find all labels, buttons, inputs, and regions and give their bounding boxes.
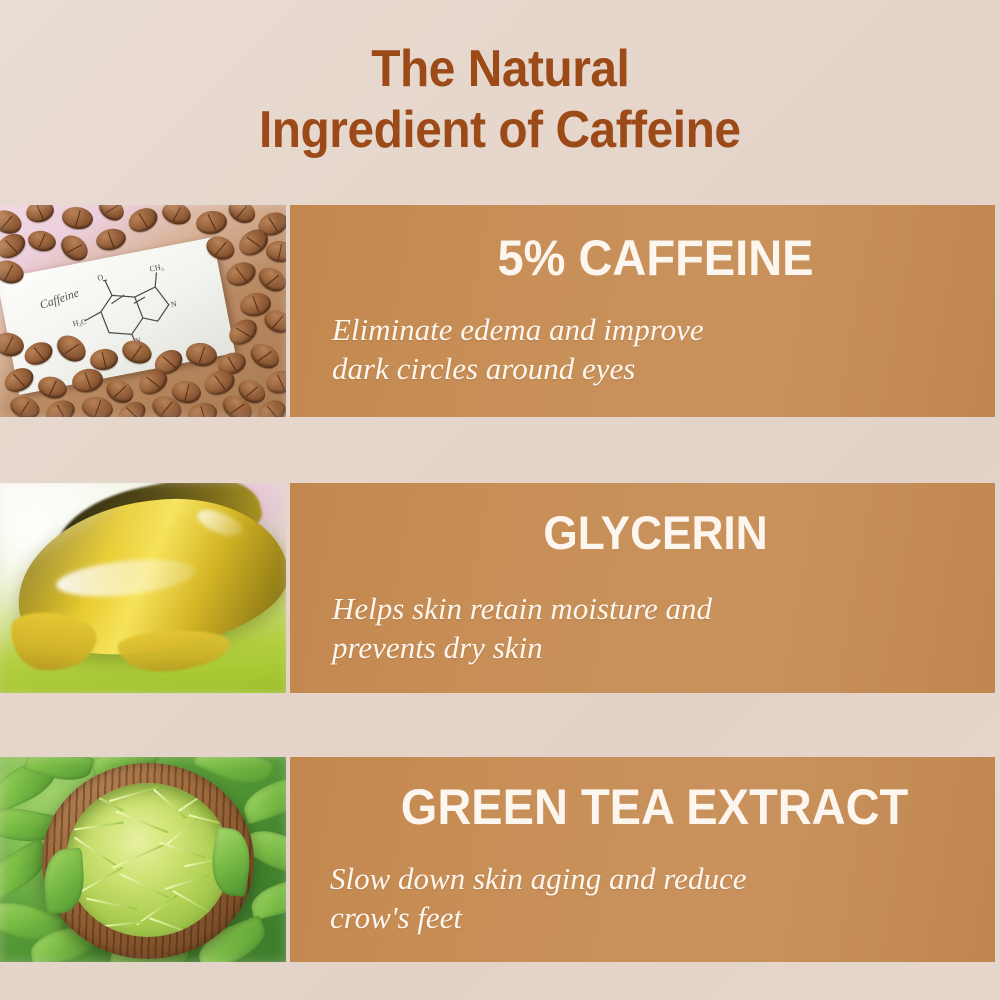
ingredient-description-line-1: Helps skin retain moisture and	[332, 591, 712, 626]
page-title-line-1: The Natural	[371, 39, 629, 100]
ingredient-description: Helps skin retain moisture and prevents …	[332, 590, 979, 668]
ingredient-panel-caffeine: 5% CAFFEINE Eliminate edema and improve …	[290, 205, 995, 417]
ingredient-row-caffeine: O H₃C CH₃ CH₃ N N Caffeine	[0, 205, 995, 417]
ingredient-infographic: The Natural Ingredient of Caffeine	[0, 0, 1000, 1000]
ingredient-row-green-tea: GREEN TEA EXTRACT Slow down skin aging a…	[0, 757, 995, 962]
svg-text:CH₃: CH₃	[149, 262, 165, 274]
svg-text:N: N	[170, 299, 178, 309]
ingredient-panel-green-tea: GREEN TEA EXTRACT Slow down skin aging a…	[290, 757, 995, 962]
caffeine-formula-paper: O H₃C CH₃ CH₃ N N Caffeine	[0, 237, 235, 395]
svg-text:O: O	[97, 273, 105, 283]
svg-text:H₃C: H₃C	[72, 317, 87, 328]
ingredient-heading: 5% CAFFEINE	[351, 233, 959, 283]
caffeine-molecule-diagram: O H₃C CH₃ CH₃ N N Caffeine	[0, 237, 235, 395]
ingredient-panel-glycerin: GLYCERIN Helps skin retain moisture and …	[290, 483, 995, 693]
page-title-line-2: Ingredient of Caffeine	[259, 100, 741, 161]
ingredient-description-line-1: Eliminate edema and improve	[332, 312, 704, 347]
caffeine-label-text: Caffeine	[38, 285, 82, 312]
ingredient-description-line-2: prevents dry skin	[332, 629, 979, 668]
ingredient-heading: GLYCERIN	[351, 509, 959, 556]
ingredient-description: Eliminate edema and improve dark circles…	[332, 311, 979, 389]
ingredient-row-glycerin: GLYCERIN Helps skin retain moisture and …	[0, 483, 995, 693]
ingredient-heading: GREEN TEA EXTRACT	[349, 782, 959, 832]
ingredient-description-line-1: Slow down skin aging and reduce	[330, 861, 746, 896]
coffee-beans-caffeine-formula-photo: O H₃C CH₃ CH₃ N N Caffeine	[0, 205, 286, 417]
glycerin-oil-drop-photo	[0, 483, 286, 693]
page-header: The Natural Ingredient of Caffeine	[0, 0, 1000, 200]
basket-tea-leaves	[66, 783, 230, 937]
green-tea-leaves-basket-photo	[0, 757, 286, 962]
ingredient-description-line-2: crow's feet	[330, 899, 979, 938]
ingredient-description-line-2: dark circles around eyes	[332, 350, 979, 389]
ingredient-description: Slow down skin aging and reduce crow's f…	[330, 860, 979, 938]
